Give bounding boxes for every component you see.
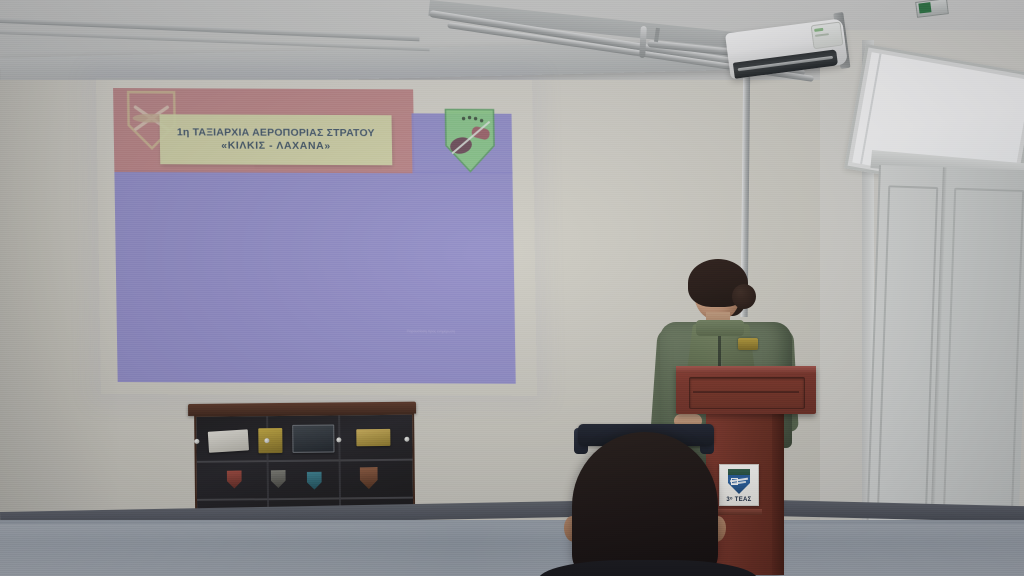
podium-column-edge	[772, 413, 784, 575]
cabinet-shelf-2	[197, 497, 413, 501]
slide-title-line-1: 1η ΤΑΞΙΑΡΧΙΑ ΑΕΡΟΠΟΡΙΑΣ ΣΤΡΑΤΟΥ	[177, 126, 375, 140]
shield-teal	[307, 472, 322, 490]
plaque-gold-1	[258, 428, 282, 453]
slide-body-area	[114, 170, 515, 384]
wall-shadow-left	[0, 80, 120, 550]
podium-top-edge	[676, 366, 816, 373]
cabinet-handle-3[interactable]	[264, 438, 269, 443]
podium-front-panel	[689, 377, 805, 409]
cabinet-shelf-1	[197, 459, 413, 463]
briefing-room-photo: 1η ΤΑΞΙΑΡΧΙΑ ΑΕΡΟΠΟΡΙΑΣ ΣΤΡΑΤΟΥ «ΚΙΛΚΙΣ …	[0, 0, 1024, 576]
plaque-dark	[292, 424, 334, 452]
audience-member-head	[548, 424, 738, 576]
audience-hair	[572, 432, 718, 576]
projected-slide: 1η ΤΑΞΙΑΡΧΙΑ ΑΕΡΟΠΟΡΙΑΣ ΣΤΡΑΤΟΥ «ΚΙΛΚΙΣ …	[103, 84, 526, 386]
plaque-gold-2	[356, 429, 390, 446]
cabinet-handle-1[interactable]	[194, 439, 199, 444]
door-panel-right	[943, 188, 1024, 514]
plaque-white	[208, 429, 249, 452]
gold-chest-patch	[738, 338, 758, 350]
door-panel-left	[877, 185, 938, 511]
double-door[interactable]	[866, 165, 1024, 550]
shield-grey	[271, 470, 286, 488]
cabinet-handle-5[interactable]	[336, 437, 341, 442]
podium-panel-groove	[693, 391, 799, 393]
green-shield-emblem	[443, 107, 496, 173]
presenter-hair-bun	[732, 284, 756, 309]
slide-title-line-2: «ΚΙΛΚΙΣ - ΛΑΧΑΝΑ»	[221, 140, 331, 154]
audience-shoulders	[538, 560, 758, 576]
shield-brown	[360, 467, 378, 489]
floor-reflection	[0, 524, 1024, 576]
presenter-collar	[696, 320, 744, 336]
cabinet-handle-6[interactable]	[404, 437, 409, 442]
slide-title-box: 1η ΤΑΞΙΑΡΧΙΑ ΑΕΡΟΠΟΡΙΑΣ ΣΤΡΑΤΟΥ «ΚΙΛΚΙΣ …	[159, 114, 392, 165]
slide-footnote: Παρουσίαση προς ενημέρωση	[407, 329, 513, 335]
exit-sign-glyph	[918, 2, 931, 13]
shield-red	[227, 470, 242, 488]
